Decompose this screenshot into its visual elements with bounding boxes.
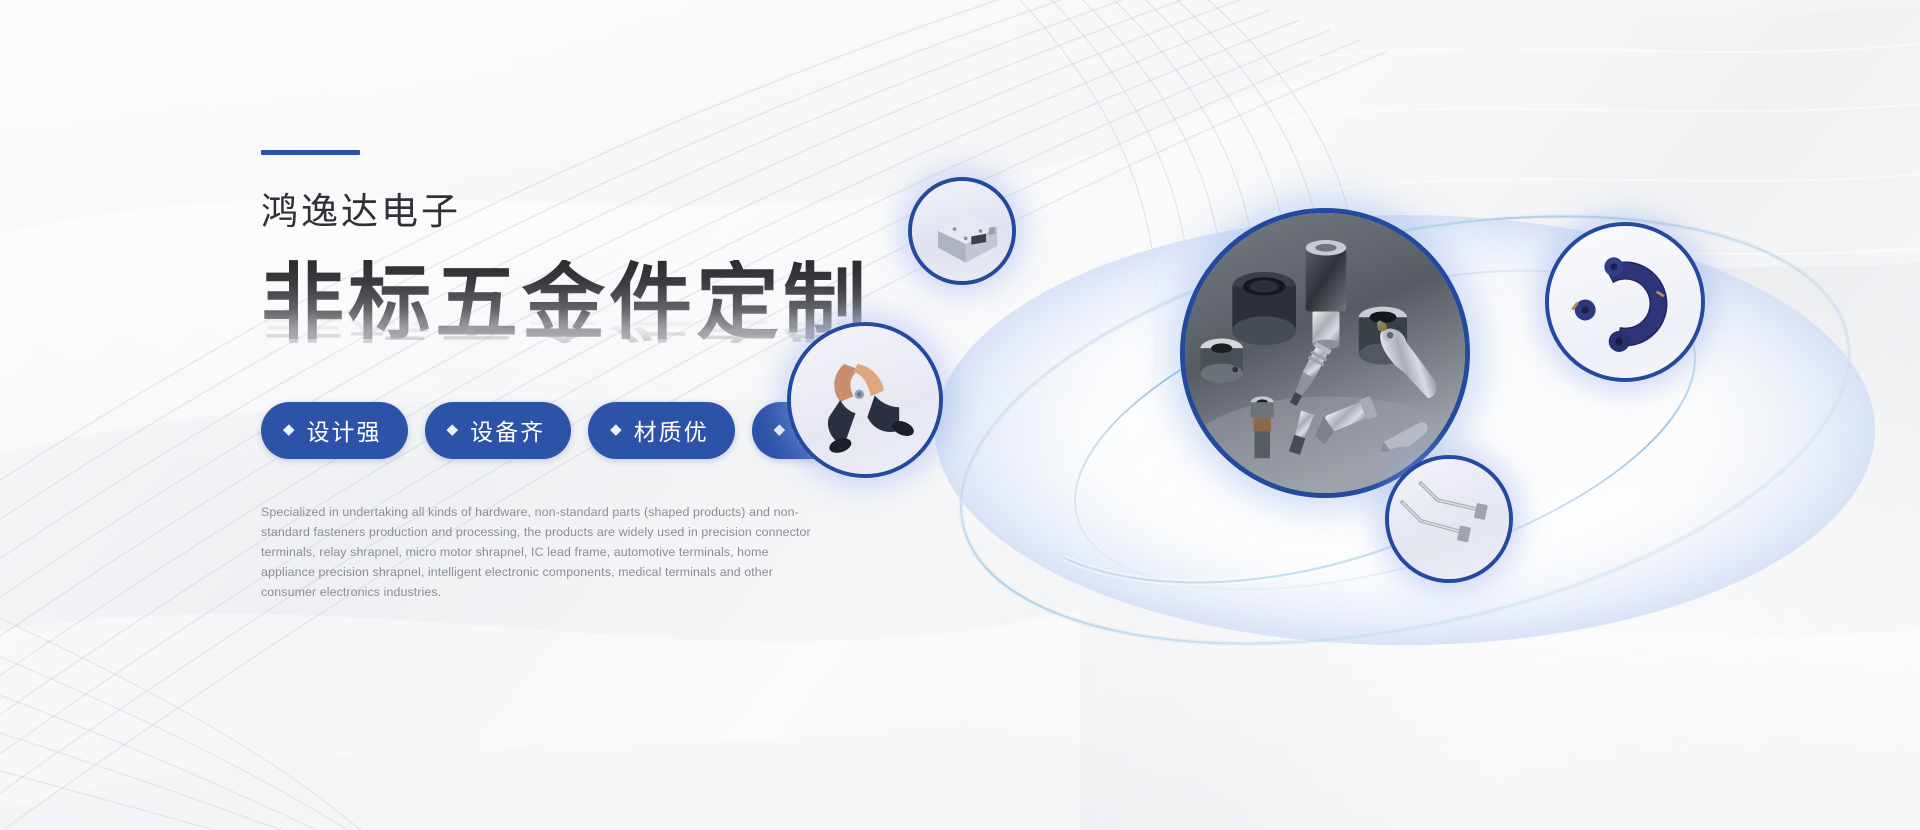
feature-pill-0[interactable]: ◆ 设计强	[261, 402, 408, 459]
brand-name: 鸿逸达电子	[261, 193, 901, 234]
product-node-retaining-ring[interactable]	[1545, 222, 1705, 382]
enclosure-image	[912, 181, 1012, 281]
feature-pill-label: 材质优	[634, 413, 709, 447]
diamond-icon: ◆	[447, 422, 461, 437]
product-node-hub[interactable]	[1180, 208, 1470, 498]
product-node-enclosure[interactable]	[908, 177, 1016, 285]
machined-parts-image	[1185, 213, 1465, 493]
headline-reflection: 非标五金件定制	[261, 307, 870, 343]
feature-pill-label: 设计强	[307, 413, 382, 447]
diamond-icon: ◆	[283, 422, 297, 437]
accent-rule	[261, 150, 360, 155]
diamond-icon: ◆	[610, 422, 624, 437]
feature-pill-label: 设备齐	[470, 413, 545, 447]
product-node-terminal-pins[interactable]	[1385, 455, 1513, 583]
hero-banner: 鸿逸达电子 非标五金件定制 非标五金件定制 ◆ 设计强 ◆ 设备齐 ◆ 材质优 …	[0, 0, 1920, 830]
description-paragraph: Specialized in undertaking all kinds of …	[261, 502, 826, 602]
feature-pill-1[interactable]: ◆ 设备齐	[425, 402, 572, 459]
product-node-clamp[interactable]	[787, 322, 943, 478]
clamp-image	[791, 326, 939, 474]
product-visual	[905, 180, 1905, 660]
diamond-icon: ◆	[774, 422, 788, 437]
terminal-pins-image	[1389, 459, 1509, 579]
retaining-ring-image	[1549, 226, 1701, 378]
feature-pill-2[interactable]: ◆ 材质优	[588, 402, 735, 459]
